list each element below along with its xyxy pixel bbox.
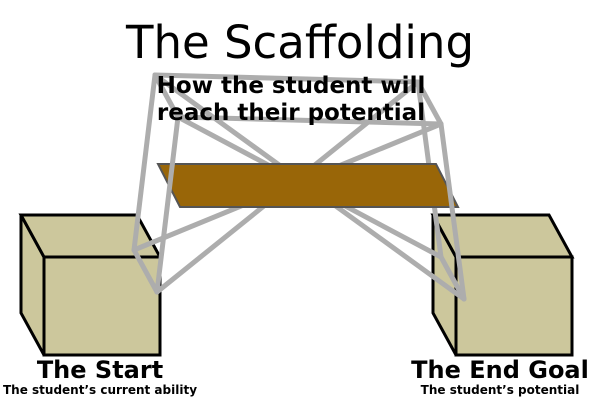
right-caption-heading: The End Goal — [411, 356, 589, 384]
subtitle-line-1: How the student will — [157, 73, 426, 99]
subtitle-line-2: reach their potential — [157, 100, 425, 126]
left-caption-subtext: The student’s current ability — [3, 383, 197, 397]
right-cube-front-face — [456, 257, 572, 355]
right-caption-subtext: The student’s potential — [421, 383, 580, 397]
left-cube — [21, 215, 160, 355]
left-cube-front-face — [44, 257, 160, 355]
left-caption-heading: The Start — [37, 356, 163, 384]
scaffold-platform — [158, 164, 458, 207]
scaffolding-diagram: The Scaffolding How the student will rea… — [0, 0, 600, 400]
page-title: The Scaffolding — [125, 16, 474, 69]
